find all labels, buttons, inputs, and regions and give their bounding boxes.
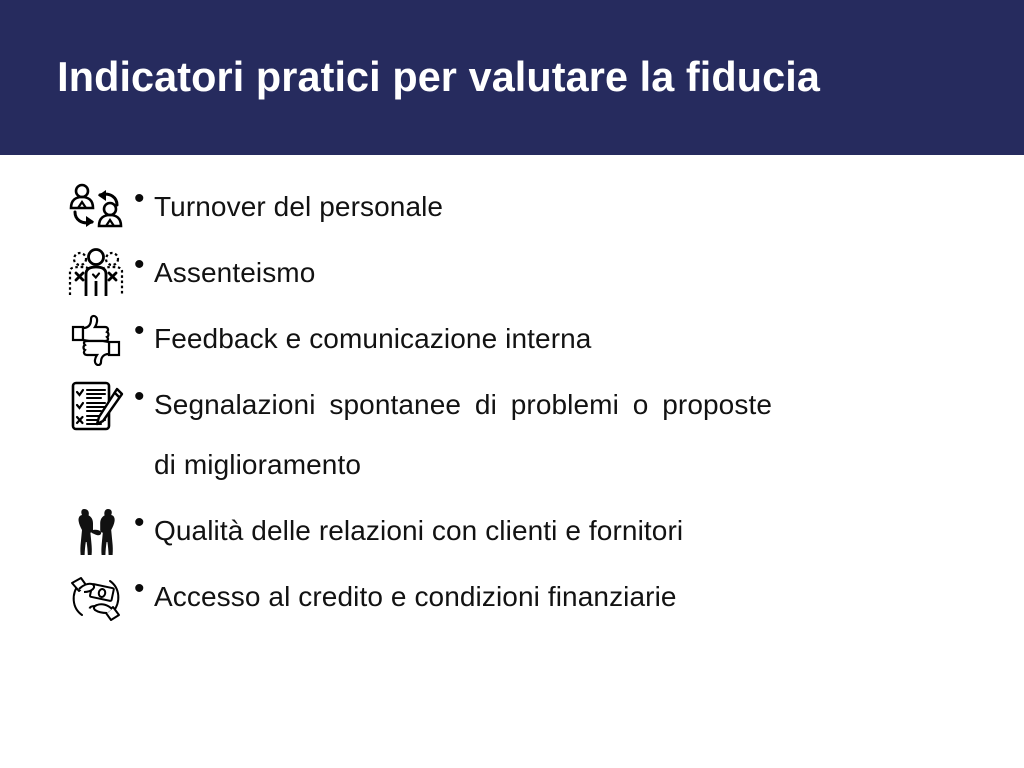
money-in-hand-icon (62, 569, 130, 627)
list-item: • Turnover del personale (0, 177, 1024, 237)
bullet-marker: • (130, 501, 154, 545)
list-item: • Qualità delle relazioni con clienti e … (0, 501, 1024, 561)
list-item-label: Assenteismo (154, 243, 772, 303)
checklist-pencil-icon (62, 377, 130, 435)
bullet-marker: • (130, 177, 154, 221)
slide-header-band: Indicatori pratici per valutare la fiduc… (0, 0, 1024, 155)
list-item: • Assenteismo (0, 243, 1024, 303)
staff-turnover-icon (62, 179, 130, 237)
list-item: • Feedback e comunicazione interna (0, 309, 1024, 369)
bullet-marker: • (130, 375, 154, 419)
page-title: Indicatori pratici per valutare la fiduc… (0, 54, 820, 100)
list-item-label: Turnover del personale (154, 177, 772, 237)
handshake-icon (62, 503, 130, 561)
slide: Indicatori pratici per valutare la fiduc… (0, 0, 1024, 768)
list-item-label: Qualità delle relazioni con clienti e fo… (154, 501, 772, 561)
absenteeism-icon (62, 245, 130, 303)
list-item-label: Segnalazioni spontanee di problemi o pro… (154, 375, 772, 495)
bullet-list: • Turnover del personale (0, 155, 1024, 768)
list-item-label: Feedback e comunicazione interna (154, 309, 772, 369)
list-item-label: Accesso al credito e condizioni finanzia… (154, 567, 772, 627)
bullet-marker: • (130, 309, 154, 353)
bullet-marker: • (130, 243, 154, 287)
list-item: • Accesso al credito e condizioni finanz… (0, 567, 1024, 627)
bullet-marker: • (130, 567, 154, 611)
list-item: • Segnalazioni spontanee di problemi o p… (0, 375, 1024, 495)
thumbs-up-down-icon (62, 311, 130, 369)
